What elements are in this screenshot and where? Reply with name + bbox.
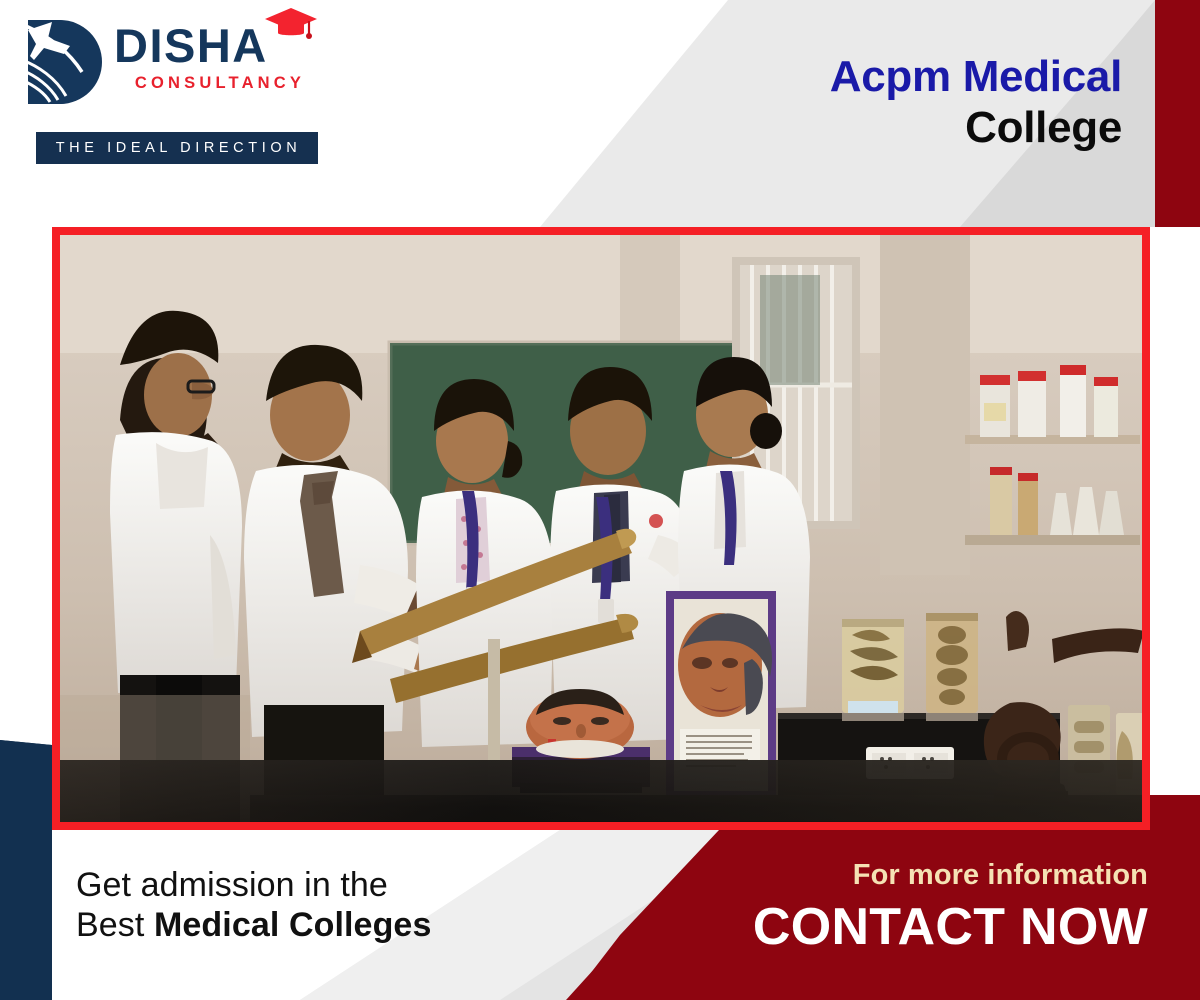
cta-subtitle: For more information <box>588 860 1148 892</box>
hero-photo <box>60 235 1142 822</box>
bench-reflection-sheen <box>60 760 1142 822</box>
brand-subtitle: CONSULTANCY <box>114 74 324 93</box>
bg-navy-corner <box>0 740 52 1000</box>
bg-navy-corner-2 <box>0 745 52 1000</box>
headline-line-2-bold: Medical Colleges <box>154 906 431 944</box>
headline-line-2: Best Medical Colleges <box>76 906 431 946</box>
college-title-line2: College <box>830 105 1122 152</box>
headline-line-1: Get admission in the <box>76 866 431 906</box>
bg-navy-corner-fill <box>0 740 52 1000</box>
brand-wordmark: DISHA CONSULTANCY <box>114 22 324 93</box>
bottom-headline: Get admission in the Best Medical Colleg… <box>76 866 431 946</box>
graduation-cap-icon <box>264 6 318 40</box>
globe-airplane-d-mark-icon <box>18 16 106 108</box>
hero-photo-frame <box>52 227 1150 830</box>
cta-headline[interactable]: CONTACT NOW <box>588 898 1148 956</box>
promo-poster: DISHA CONSULTANCY THE IDEAL DIRECTION Ac… <box>0 0 1200 1000</box>
brand-logo[interactable]: DISHA CONSULTANCY THE IDEAL DIRECTION <box>18 14 318 160</box>
cta-block[interactable]: For more information CONTACT NOW <box>588 860 1148 956</box>
brand-tagline-bar: THE IDEAL DIRECTION <box>36 132 318 164</box>
college-title-line1: Acpm Medical <box>830 54 1122 101</box>
headline-line-2-plain: Best <box>76 906 154 944</box>
brand-tagline: THE IDEAL DIRECTION <box>53 140 302 156</box>
poster-header: DISHA CONSULTANCY THE IDEAL DIRECTION Ac… <box>0 0 1200 227</box>
college-title: Acpm Medical College <box>830 54 1122 151</box>
